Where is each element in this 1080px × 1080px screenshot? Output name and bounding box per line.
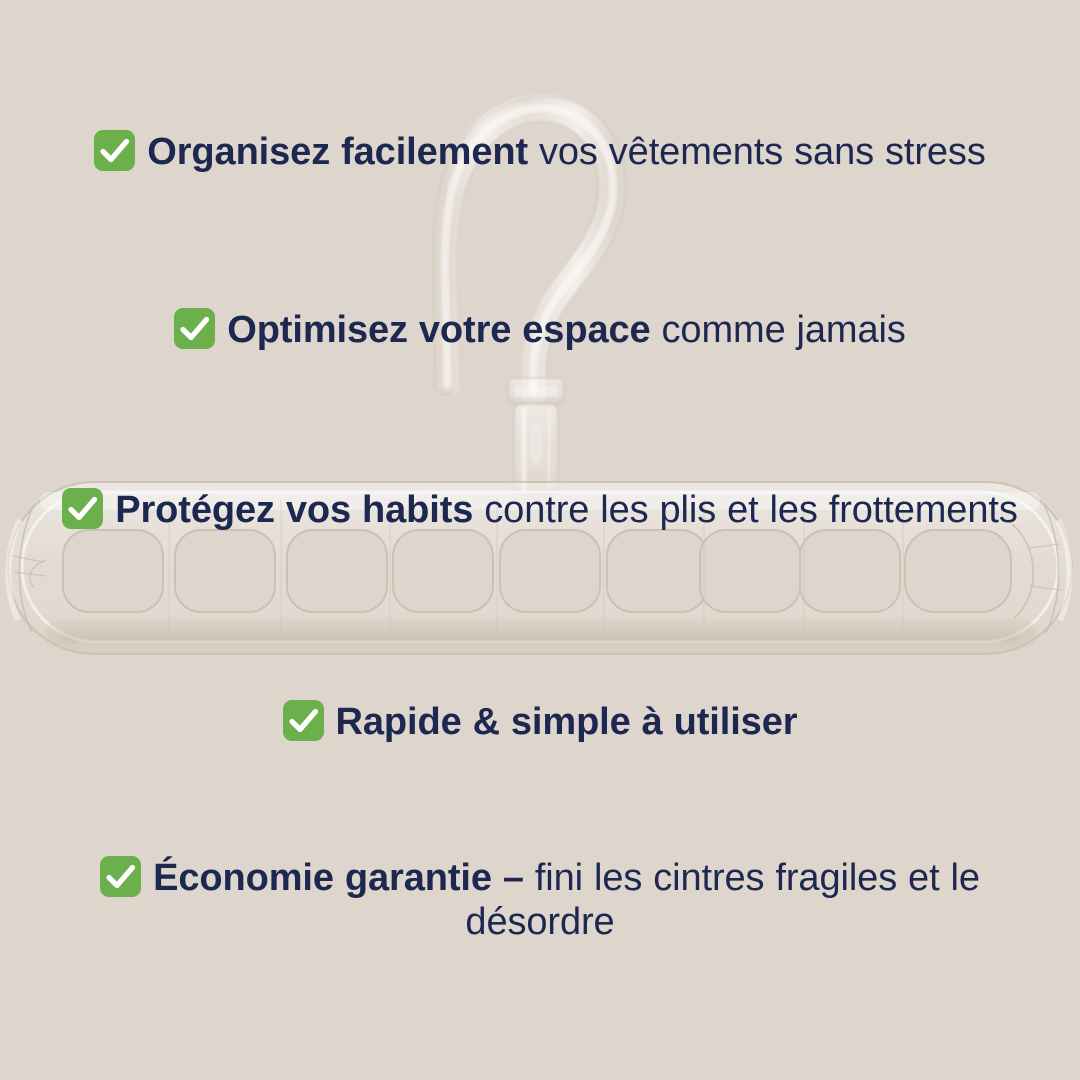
benefit-item-2: Optimisez votre espace comme jamais: [40, 307, 1040, 352]
benefit-item-5: Économie garantie – fini les cintres fra…: [40, 855, 1040, 945]
check-square-icon: [283, 700, 324, 741]
benefit-item-4: Rapide & simple à utiliser: [40, 699, 1040, 744]
benefit-list: Organisez facilement vos vêtements sans …: [0, 0, 1080, 1080]
benefit-item-3: Protégez vos habits contre les plis et l…: [40, 487, 1040, 532]
benefit-3-rest: contre les plis et les frottements: [473, 489, 1017, 531]
benefit-3-bold: Protégez vos habits: [115, 489, 473, 531]
benefit-5-rest: fini les cintres fragiles et le désordre: [465, 857, 979, 943]
benefit-1-bold: Organisez facilement: [147, 131, 528, 173]
check-square-icon: [100, 856, 141, 897]
check-square-icon: [62, 488, 103, 529]
benefit-1-rest: vos vêtements sans stress: [528, 131, 986, 173]
benefit-4-bold: Rapide & simple à utiliser: [336, 701, 798, 743]
check-square-icon: [94, 130, 135, 171]
benefit-2-rest: comme jamais: [651, 309, 906, 351]
check-square-icon: [174, 308, 215, 349]
benefit-item-1: Organisez facilement vos vêtements sans …: [40, 129, 1040, 174]
benefit-2-bold: Optimisez votre espace: [227, 309, 650, 351]
benefit-5-bold: Économie garantie –: [153, 857, 524, 899]
promo-graphic: Organisez facilement vos vêtements sans …: [0, 0, 1080, 1080]
